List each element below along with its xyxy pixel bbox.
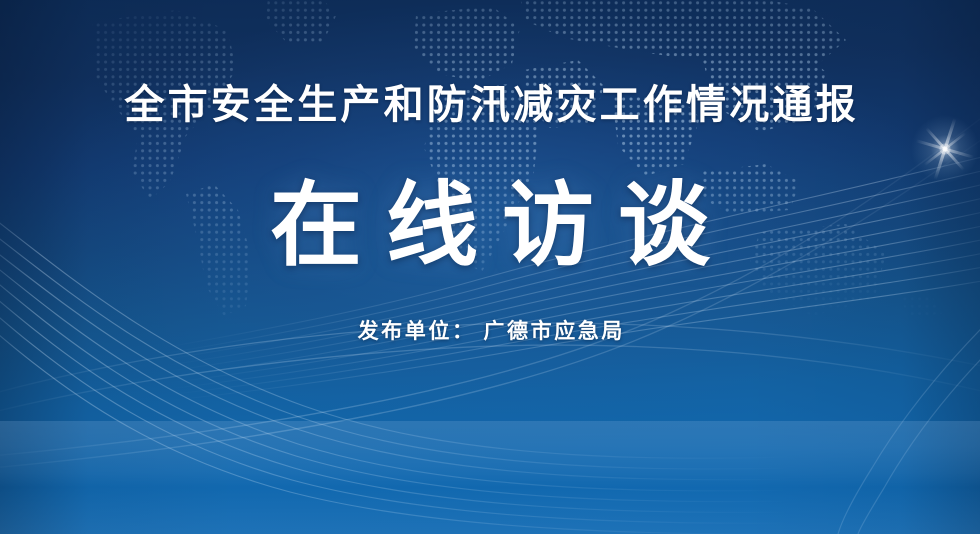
- publisher-line: 发布单位： 广德市应急局: [0, 318, 980, 345]
- poster-canvas: 全市安全生产和防汛减灾工作情况通报 在线访谈 发布单位： 广德市应急局: [0, 0, 980, 534]
- page-title: 全市安全生产和防汛减灾工作情况通报: [0, 83, 980, 128]
- headline: 在线访谈: [0, 178, 980, 276]
- poster-text-layer: 全市安全生产和防汛减灾工作情况通报 在线访谈 发布单位： 广德市应急局: [0, 0, 980, 534]
